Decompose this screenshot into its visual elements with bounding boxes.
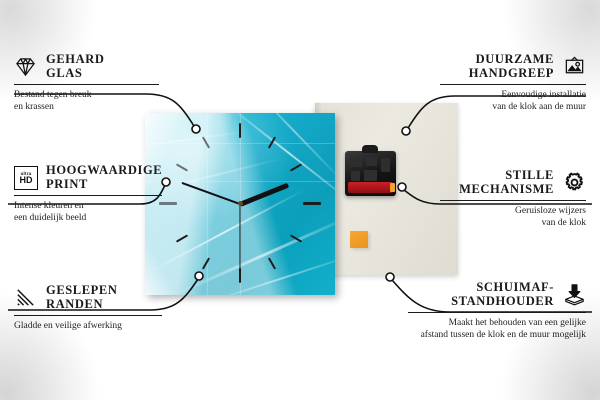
feature-divider [440, 84, 586, 85]
feature-description: Gladde en veilige afwerking [14, 321, 162, 333]
diagonal-lines-icon [14, 286, 37, 309]
ultra-hd-icon: ultra HD [14, 166, 37, 189]
feature-title: GEHARD GLAS [46, 52, 104, 80]
feature-divider [14, 84, 159, 85]
picture-frame-icon [563, 55, 586, 78]
feature-header: SCHUIMAF- STANDHOUDER [408, 280, 586, 308]
feature-hoogwaardige-print: ultra HD HOOGWAARDIGE PRINT Intense kleu… [14, 163, 162, 224]
feature-duurzame-handgreep: DUURZAME HANDGREEP Eenvoudige installati… [440, 52, 586, 113]
feature-divider [440, 200, 586, 201]
feature-description: Maakt het behouden van een gelijke afsta… [408, 318, 586, 341]
feature-header: GESLEPEN RANDEN [14, 283, 162, 311]
feature-header: ultra HD HOOGWAARDIGE PRINT [14, 163, 162, 191]
feature-stille-mechanisme: STILLE MECHANISME Geruisloze wijzers van… [440, 168, 586, 229]
feature-title: GESLEPEN RANDEN [46, 283, 118, 311]
feature-title: DUURZAME HANDGREEP [469, 52, 554, 80]
feature-description: Intense kleuren en een duidelijk beeld [14, 201, 162, 224]
feature-description: Eenvoudige installatie van de klok aan d… [440, 90, 586, 113]
feature-description: Bestand tegen breuk en krassen [14, 90, 159, 113]
feature-schuimafstandhouder: SCHUIMAF- STANDHOUDER Maakt het behouden… [408, 280, 586, 341]
feature-divider [14, 315, 162, 316]
feature-header: STILLE MECHANISME [440, 168, 586, 196]
callout-dot-geslepen-randen [195, 272, 203, 280]
feature-gehard-glas: GEHARD GLAS Bestand tegen breuk en krass… [14, 52, 159, 113]
diamond-icon [14, 55, 37, 78]
feature-title: STILLE MECHANISME [459, 168, 554, 196]
feature-divider [14, 195, 162, 196]
callout-dot-duurzame-handgreep [402, 127, 410, 135]
gear-icon [563, 171, 586, 194]
feature-title: SCHUIMAF- STANDHOUDER [451, 280, 554, 308]
feature-header: GEHARD GLAS [14, 52, 159, 80]
feature-header: DUURZAME HANDGREEP [440, 52, 586, 80]
feature-divider [408, 312, 586, 313]
infographic-canvas: GEHARD GLAS Bestand tegen breuk en krass… [0, 0, 600, 400]
feature-title: HOOGWAARDIGE PRINT [46, 163, 162, 191]
down-arrow-pad-icon [563, 283, 586, 306]
feature-description: Geruisloze wijzers van de klok [440, 206, 586, 229]
callout-dot-gehard-glas [192, 125, 200, 133]
callout-dot-stille-mechanisme [398, 183, 406, 191]
callout-dot-hoogwaardige-print [162, 178, 170, 186]
callout-dot-schuimafstandhouder [386, 273, 394, 281]
feature-geslepen-randen: GESLEPEN RANDEN Gladde en veilige afwerk… [14, 283, 162, 333]
